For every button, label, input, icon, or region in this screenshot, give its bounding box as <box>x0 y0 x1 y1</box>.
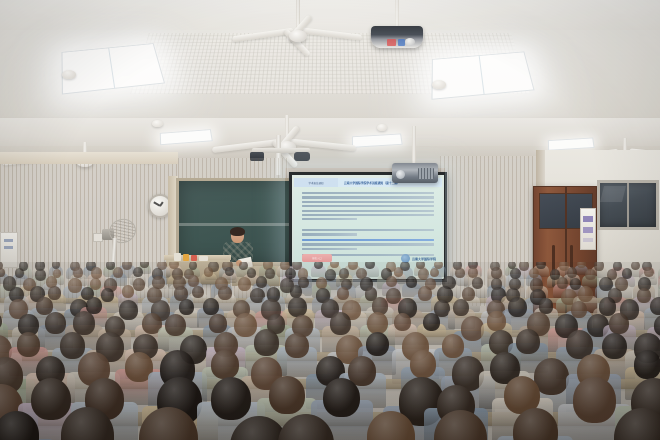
projector-sticker <box>398 39 405 46</box>
window-reflection <box>600 186 626 202</box>
audience-person-head <box>330 262 338 268</box>
text-line <box>302 229 434 231</box>
audience-person-head <box>101 288 114 302</box>
audience-person-head <box>529 268 539 278</box>
audience-person-head <box>423 313 440 331</box>
audience-person-head <box>60 332 85 358</box>
smoke-detector-icon <box>377 124 387 131</box>
paper-stack <box>174 253 181 261</box>
lectern-items <box>174 252 218 261</box>
audience-person-head <box>519 262 529 271</box>
audience-person-head <box>17 332 40 357</box>
audience-person-head <box>386 276 397 288</box>
audience-person-head <box>45 312 66 334</box>
text-line <box>302 196 434 198</box>
audience-person-head <box>218 286 231 300</box>
text-line <box>302 192 434 194</box>
wall-mounted-fan <box>98 219 134 263</box>
slide-logo-text: 云南大学国际学院 <box>412 257 436 261</box>
audience-person-head <box>113 267 123 278</box>
slide-tab-label: 学术报告通知 <box>309 181 324 185</box>
audience-person-head <box>577 262 585 268</box>
text-line <box>302 243 434 245</box>
smoke-detector-icon <box>152 120 163 127</box>
text-line <box>302 214 434 216</box>
audience-person-head <box>247 268 256 278</box>
audience-person-head <box>203 298 219 315</box>
text-line <box>302 248 357 250</box>
text-line <box>302 233 357 235</box>
audience-person-head <box>122 285 134 298</box>
ceiling-projector <box>371 26 423 48</box>
audience-person-head <box>367 312 388 334</box>
audience-person-head <box>254 329 279 356</box>
presentation-slide: 学术报告通知 云南大学国际学院学术讲座通知（第十二期） <box>294 178 442 270</box>
audience-person-head <box>31 378 71 420</box>
left-wall-trim <box>0 152 178 164</box>
audience-person-head <box>323 378 360 417</box>
audience-person-head <box>179 299 194 315</box>
audience-person-head <box>256 276 267 288</box>
projector-sticker <box>387 39 396 46</box>
slide-tab: 学术报告通知 <box>294 178 338 187</box>
audience-person-head <box>238 277 251 291</box>
projector-vent <box>418 168 434 179</box>
audience-person-head <box>394 267 403 276</box>
audience-person-head <box>634 350 660 378</box>
audience-person-head <box>585 269 595 280</box>
projector-mount-rod <box>412 126 416 164</box>
audience-person-head <box>133 267 143 277</box>
audience-person-head <box>133 278 146 291</box>
blackboard-divider <box>179 223 299 226</box>
audience-person-head <box>211 377 251 420</box>
audience-person-head <box>68 278 82 293</box>
audience-person-head <box>285 333 309 358</box>
audience-person-head <box>394 313 411 331</box>
audience-person-head <box>73 267 83 277</box>
audience-person-head <box>265 268 275 279</box>
fan-hub <box>289 30 307 42</box>
audience-person-head <box>239 262 248 270</box>
smoke-detector-icon <box>62 70 76 79</box>
audience-person-head <box>472 277 484 289</box>
audience-person-head <box>316 277 327 289</box>
audience-person-head <box>508 297 527 317</box>
red-item <box>191 255 197 261</box>
audience-person-head <box>455 268 464 278</box>
audience-person-head <box>516 329 540 354</box>
audience-person-head <box>487 311 505 330</box>
audience-seating-area <box>0 262 660 440</box>
projector-mount-rod <box>395 0 399 28</box>
notice-sheet <box>583 238 593 242</box>
notice-sheet <box>583 227 593 233</box>
audience-person-head <box>602 333 627 359</box>
audience-person-head <box>337 287 349 300</box>
slide-paragraph <box>302 192 434 223</box>
audience-person-head <box>165 314 186 336</box>
notice-sheet <box>583 216 593 222</box>
audience-person-head <box>637 288 652 304</box>
text-line <box>302 239 434 241</box>
window-mullion <box>627 183 629 227</box>
orange-box-item <box>183 254 189 261</box>
fan-support-pole <box>111 238 117 264</box>
slide-button-label: 报名入口 <box>312 256 322 260</box>
smoke-detector-icon <box>432 80 446 89</box>
lecture-hall-photo: 学术报告通知 云南大学国际学院学术讲座通知（第十二期） <box>0 0 660 440</box>
audience-person-head <box>225 267 234 276</box>
classroom-window <box>597 180 659 230</box>
fan-cage-icon <box>106 216 139 247</box>
text-line <box>302 205 434 207</box>
slide-paragraph-highlighted <box>302 239 434 252</box>
audience-person-head <box>314 262 323 269</box>
audience-person-head <box>339 268 349 279</box>
audience-person-head <box>578 286 593 302</box>
control-switch <box>4 239 13 242</box>
audience-person-head <box>348 262 358 270</box>
audience-person-head <box>204 267 213 277</box>
control-switch <box>4 246 13 249</box>
audience-person-head <box>269 376 304 414</box>
audience-person-head <box>211 350 238 379</box>
audience-person-head <box>410 350 437 378</box>
slide-signup-button[interactable]: 报名入口 <box>302 254 332 262</box>
audience-person-head <box>366 332 389 356</box>
projector-mount-bracket <box>294 152 310 161</box>
wall-notice-board <box>580 208 596 250</box>
clock-minute-hand <box>153 202 160 207</box>
text-line <box>302 201 434 203</box>
audience-person-head <box>567 267 577 278</box>
audience-person-head <box>15 268 24 278</box>
audience-person-head <box>48 286 62 300</box>
audience-person-head <box>594 262 604 271</box>
audience-person-head <box>234 313 257 337</box>
audience-person-head <box>644 267 654 277</box>
audience-person-head <box>406 276 417 288</box>
audience-person-head <box>119 300 138 320</box>
audience-person-head <box>442 334 464 358</box>
audience-person-head <box>573 377 616 423</box>
audience-person-head <box>325 269 336 281</box>
projector-lens-icon <box>396 170 405 179</box>
ceiling-projector <box>392 163 438 183</box>
audience-person-head <box>209 314 226 332</box>
audience-person-head <box>650 297 660 316</box>
audience-person-head <box>91 267 102 279</box>
audience-person-head <box>418 286 432 301</box>
audience-person-head <box>609 313 629 334</box>
fan-blade <box>300 27 362 41</box>
projector-lens-icon <box>405 38 415 46</box>
audience-person-head <box>330 312 352 335</box>
audience-person-head <box>122 262 132 270</box>
audience-person-head <box>35 269 46 281</box>
audience-person-head <box>491 267 503 279</box>
text-line <box>302 210 434 212</box>
slide-paragraph <box>302 229 434 238</box>
audience-person-head <box>140 262 148 268</box>
white-tray-item <box>199 256 208 261</box>
ceiling-fan <box>238 0 358 60</box>
text-line <box>302 218 357 220</box>
presenter-hair <box>230 227 245 236</box>
